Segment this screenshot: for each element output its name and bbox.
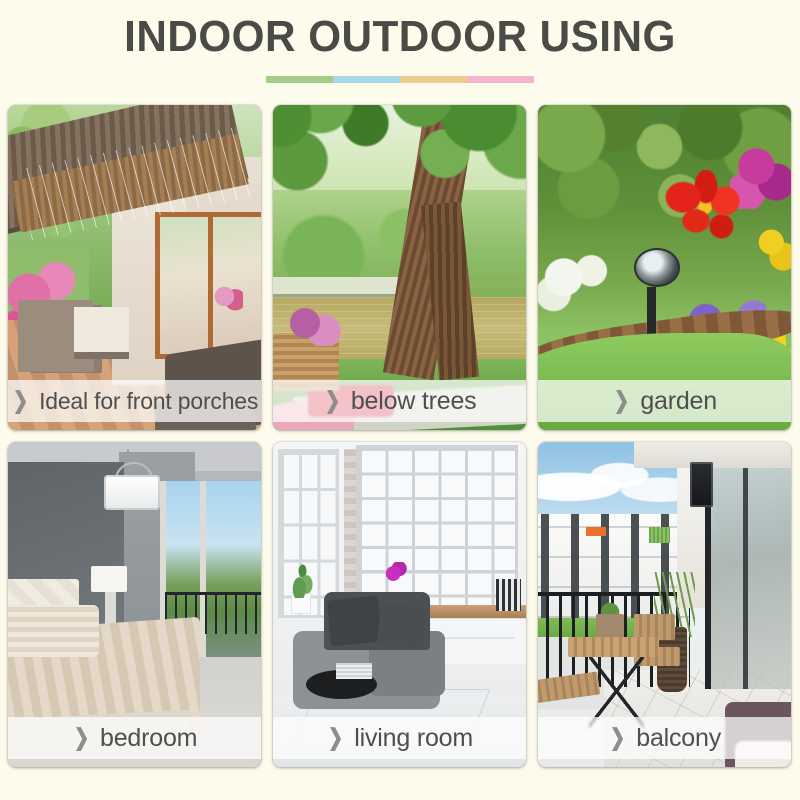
caption-text: bedroom [100,724,197,753]
chevron-right-icon: ❯ [328,726,343,749]
chevron-right-icon: ❯ [74,726,89,749]
chevron-right-icon: ❯ [614,389,629,412]
caption-text: Ideal for front porches [39,388,258,415]
accent-segment-green [266,76,333,83]
accent-color-bar [266,76,534,83]
scenario-card-garden[interactable]: ❯ garden [538,105,791,430]
caption-text: garden [640,387,717,416]
scenario-card-living-room[interactable]: ❯ living room [273,442,526,767]
chevron-right-icon: ❯ [324,389,339,412]
caption-text: below trees [351,387,477,416]
caption-text: balcony [636,724,721,753]
card-caption: ❯ balcony [538,717,791,759]
caption-text: living room [354,724,473,753]
card-caption: ❯ below trees [273,380,526,422]
card-caption: ❯ bedroom [8,717,261,759]
card-caption: ❯ Ideal for front porches [8,380,261,422]
product-infographic-page: INDOOR OUTDOOR USING [0,0,800,800]
accent-segment-pink [467,76,534,83]
scenario-card-below-trees[interactable]: ❯ below trees [273,105,526,430]
header: INDOOR OUTDOOR USING [0,0,800,83]
usage-scenario-grid: ❯ Ideal for front porches [8,105,792,767]
accent-segment-blue [333,76,400,83]
scenario-card-balcony[interactable]: ❯ balcony [538,442,791,767]
chevron-right-icon: ❯ [13,389,28,412]
accent-segment-yellow [400,76,467,83]
chevron-right-icon: ❯ [610,726,625,749]
scenario-card-front-porches[interactable]: ❯ Ideal for front porches [8,105,261,430]
page-title: INDOOR OUTDOOR USING [16,14,784,60]
card-caption: ❯ garden [538,380,791,422]
card-caption: ❯ living room [273,717,526,759]
scenario-card-bedroom[interactable]: ❯ bedroom [8,442,261,767]
